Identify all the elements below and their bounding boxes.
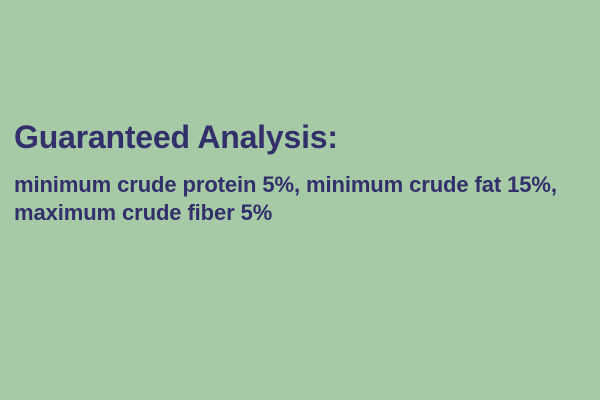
content-block: Guaranteed Analysis: minimum crude prote… — [14, 118, 600, 227]
guaranteed-analysis-text: minimum crude protein 5%, minimum crude … — [14, 171, 600, 227]
page-title: Guaranteed Analysis: — [14, 118, 600, 156]
guaranteed-analysis-panel: Guaranteed Analysis: minimum crude prote… — [0, 0, 600, 400]
